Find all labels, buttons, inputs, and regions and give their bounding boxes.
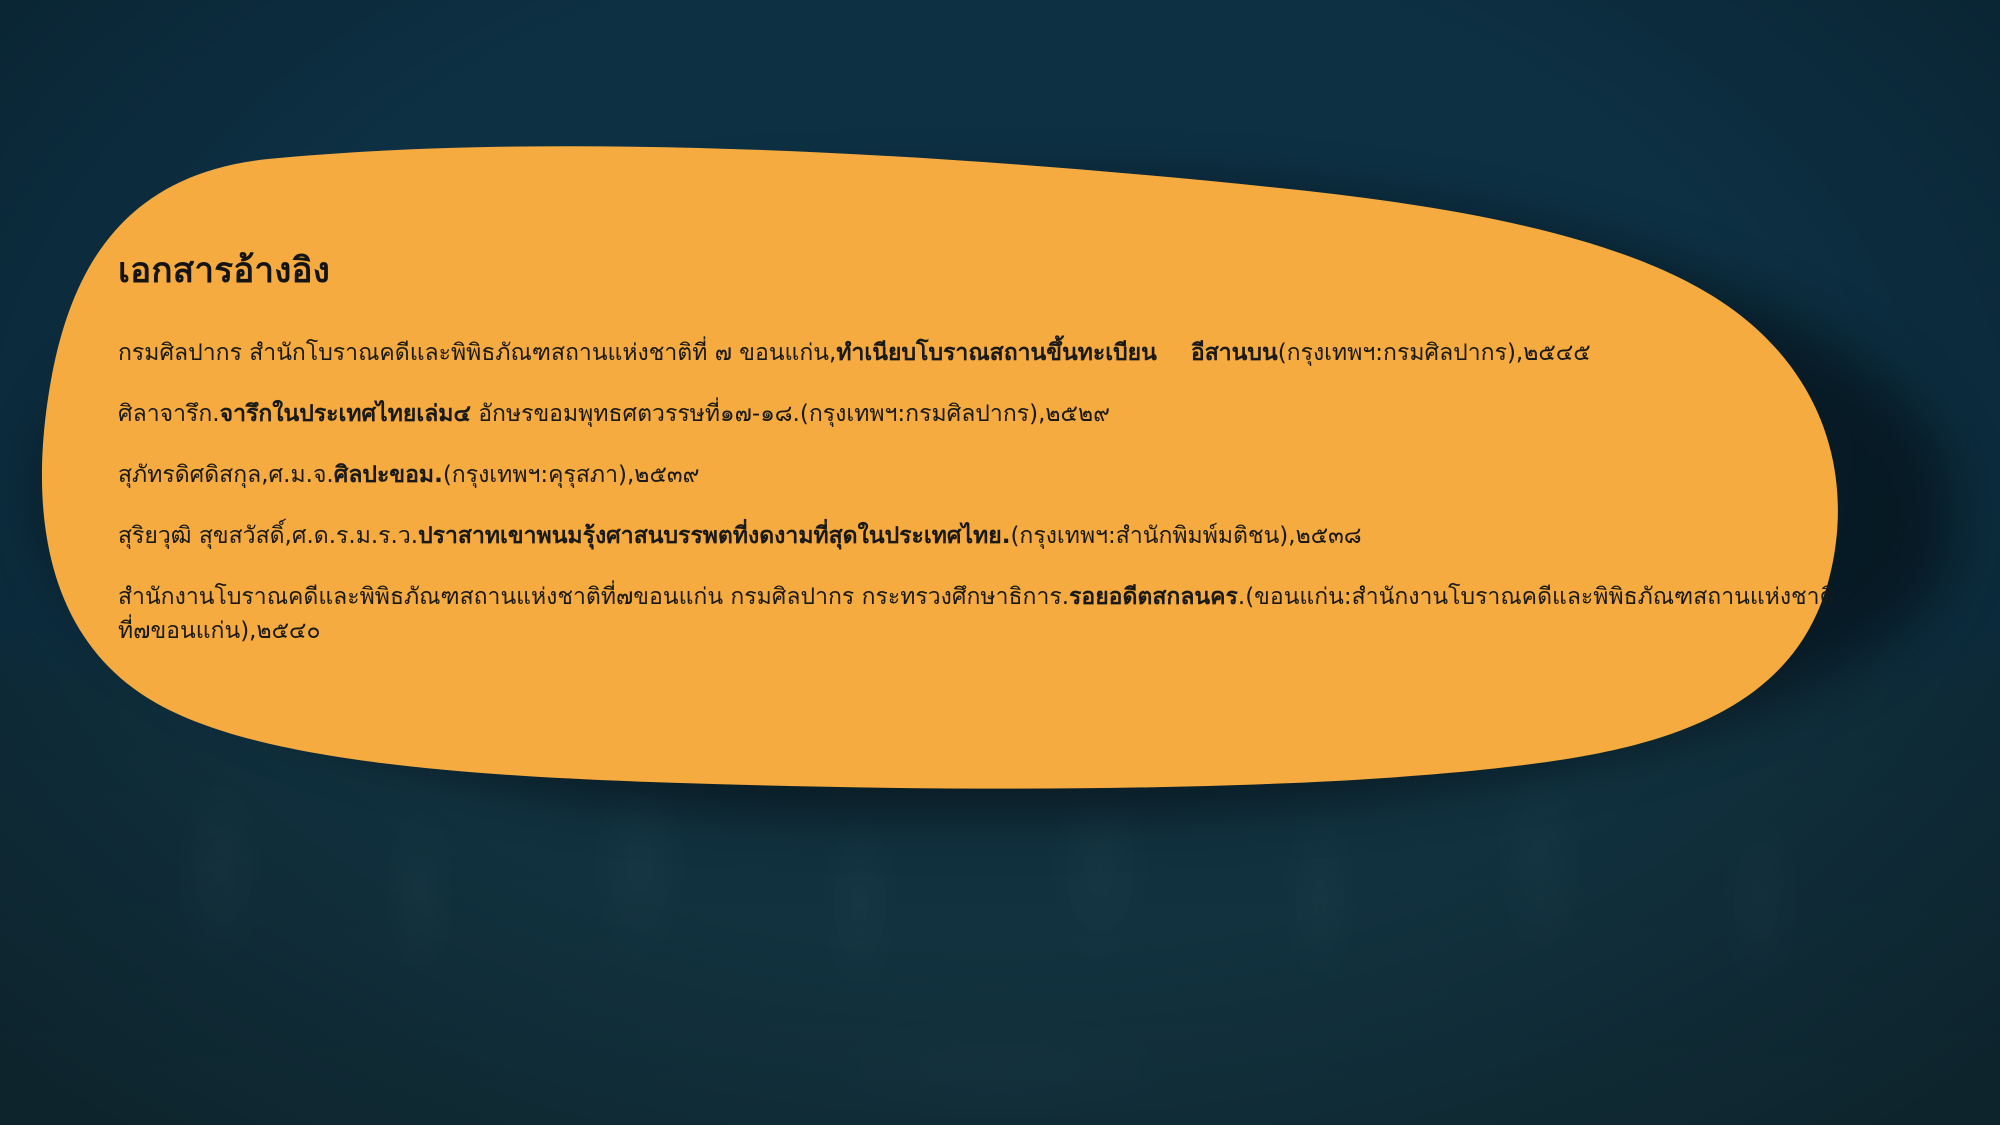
ref5-year: ๒๕๔๐ bbox=[256, 618, 320, 644]
ref3-title: ศิลปะขอม. bbox=[334, 462, 443, 488]
ref4-title: ปราสาทเขาพนมรุ้งศาสนบรรพตที่งดงามที่สุดใ… bbox=[418, 523, 1010, 549]
ref1-title: ทำเนียบโบราณสถานขึ้นทะเบียน bbox=[836, 340, 1157, 366]
ref5-title: รอยอดีตสกลนคร bbox=[1069, 584, 1238, 610]
ref1-publication: (กรุงเทพฯ:กรมศิลปากร), bbox=[1278, 340, 1524, 366]
ref4-publication: (กรุงเทพฯ:สำนักพิมพ์มติชน), bbox=[1010, 523, 1295, 549]
reference-list: กรมศิลปากร สำนักโบราณคดีและพิพิธภัณฑสถาน… bbox=[118, 336, 1858, 648]
ref3-publication: (กรุงเทพฯ:คุรุสภา), bbox=[443, 462, 634, 488]
ref1-author: กรมศิลปากร สำนักโบราณคดีและพิพิธภัณฑสถาน… bbox=[118, 340, 836, 366]
reference-item-2: ศิลาจารึก.จารึกในประเทศไทยเล่ม๔ อักษรขอม… bbox=[118, 397, 1858, 431]
ref4-year: ๒๕๓๘ bbox=[1296, 523, 1362, 549]
reference-item-3: สุภัทรดิศดิสกุล,ศ.ม.จ.ศิลปะขอม.(กรุงเทพฯ… bbox=[118, 458, 1858, 492]
ref2-title: จารึกในประเทศไทยเล่ม๔ bbox=[220, 401, 471, 427]
ref3-author: สุภัทรดิศดิสกุล,ศ.ม.จ. bbox=[118, 462, 334, 488]
ref2-year: ๒๕๒๙ bbox=[1045, 401, 1110, 427]
reference-content: เอกสารอ้างอิง กรมศิลปากร สำนักโบราณคดีแล… bbox=[118, 250, 1858, 648]
reference-item-4: สุริยวุฒิ สุขสวัสดิ์,ศ.ด.ร.ม.ร.ว.ปราสาทเ… bbox=[118, 519, 1858, 553]
reference-item-1: กรมศิลปากร สำนักโบราณคดีและพิพิธภัณฑสถาน… bbox=[118, 336, 1858, 370]
ref4-author: สุริยวุฒิ สุขสวัสดิ์,ศ.ด.ร.ม.ร.ว. bbox=[118, 523, 418, 549]
ref3-year: ๒๕๓๙ bbox=[634, 462, 699, 488]
reference-item-5: สำนักงานโบราณคดีและพิพิธภัณฑสถานแห่งชาติ… bbox=[118, 580, 1858, 648]
page-title: เอกสารอ้างอิง bbox=[118, 250, 1858, 292]
ref1-title-cont: อีสานบน bbox=[1191, 340, 1278, 366]
slide-root: เอกสารอ้างอิง กรมศิลปากร สำนักโบราณคดีแล… bbox=[0, 0, 2000, 1125]
ref2-publication: (กรุงเทพฯ:กรมศิลปากร), bbox=[800, 401, 1046, 427]
ref1-year: ๒๕๔๕ bbox=[1523, 340, 1590, 366]
ref2-author: ศิลาจารึก. bbox=[118, 401, 220, 427]
ref5-author: สำนักงานโบราณคดีและพิพิธภัณฑสถานแห่งชาติ… bbox=[118, 584, 1069, 610]
ref2-subtitle: อักษรขอมพุทธศตวรรษที่๑๗-๑๘. bbox=[478, 401, 800, 427]
